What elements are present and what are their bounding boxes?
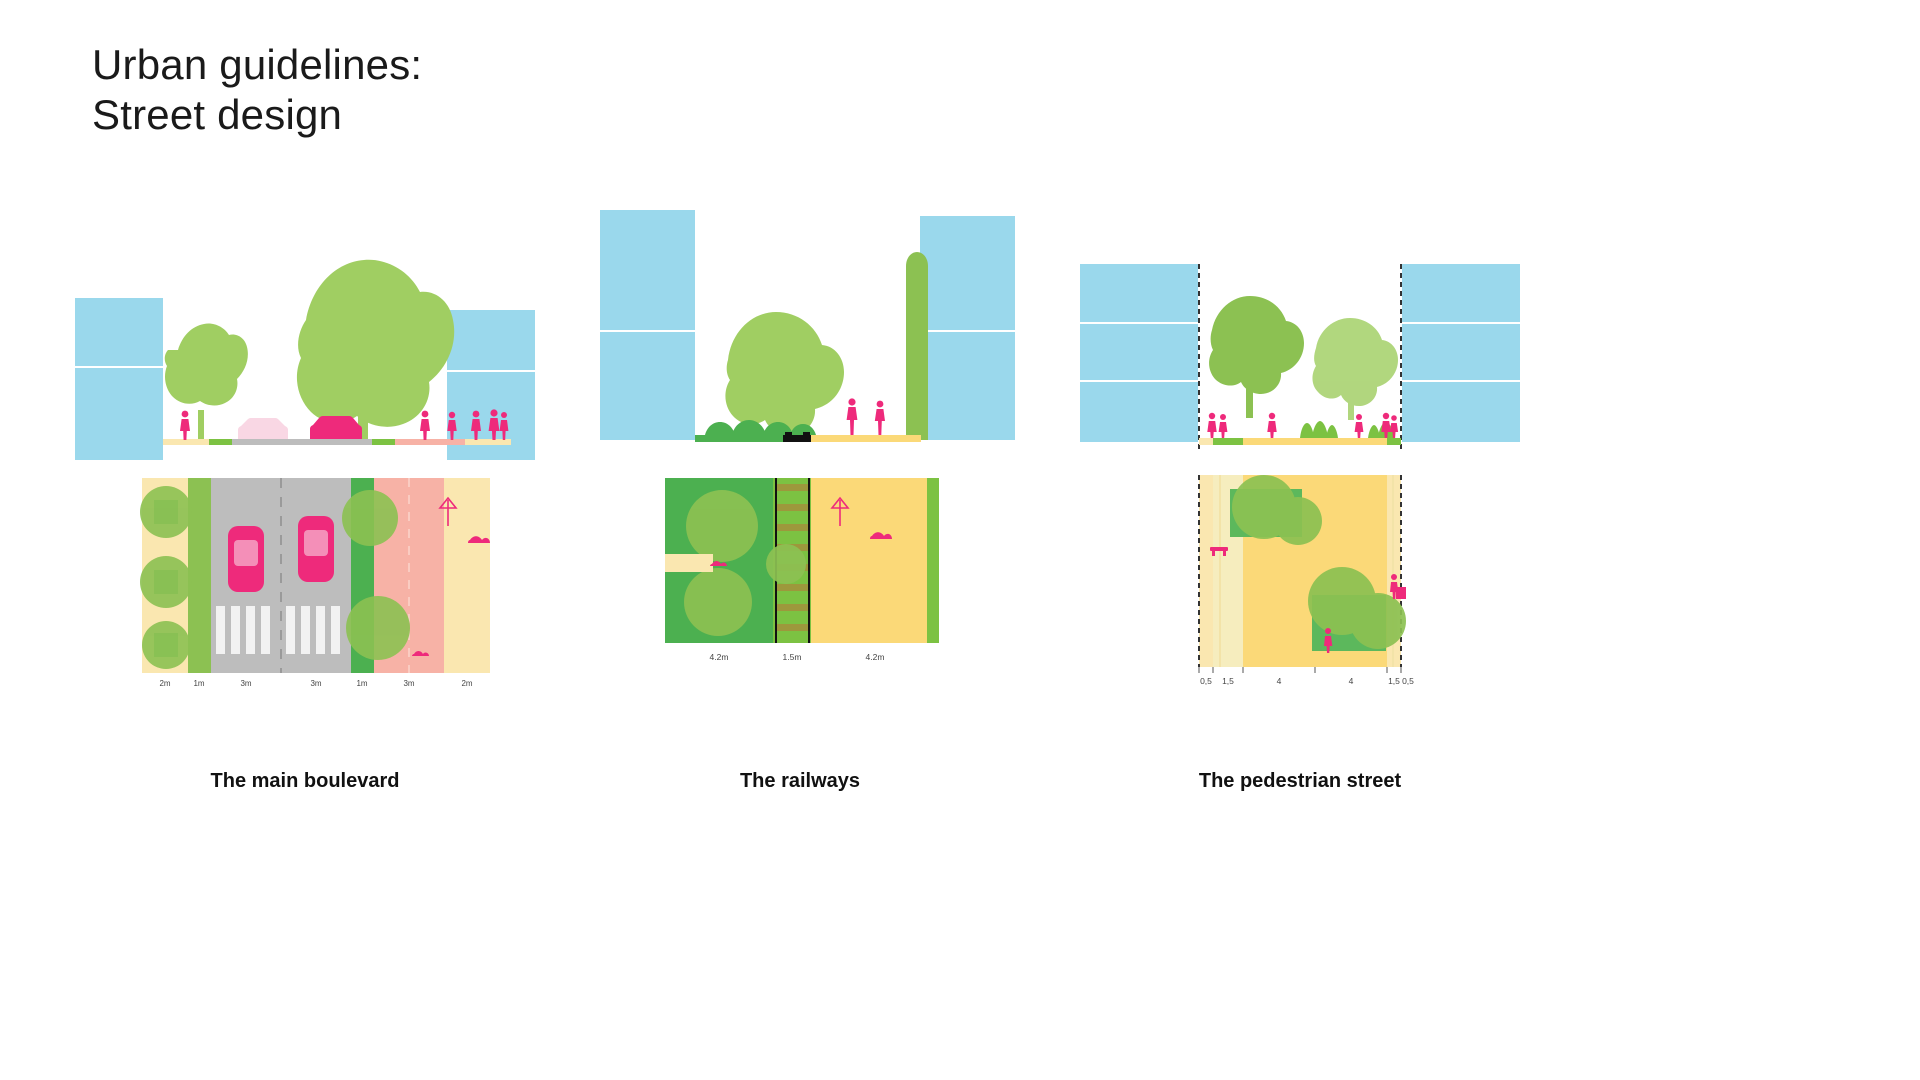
dim-label: 1.5m <box>783 652 802 662</box>
panel-pedestrian: 0,5 1,5 4 4 1,5 0,5 The pedestrian stree… <box>1060 230 1540 690</box>
building-left <box>75 298 163 460</box>
kiosk-icon <box>1396 587 1406 599</box>
car-pink-icon <box>310 416 362 439</box>
dim-label: 3m <box>403 679 414 688</box>
dim-label: 2m <box>159 679 170 688</box>
dim-label: 1,5 <box>1222 676 1234 686</box>
panel-railways: 4.2m 1.5m 4.2m The railways <box>600 230 1040 678</box>
person-icon <box>420 411 430 440</box>
person-icon <box>875 401 885 435</box>
caption-pedestrian: The pedestrian street <box>1199 770 1401 793</box>
hedge-tall-icon <box>906 252 928 440</box>
boulevard-section-view <box>70 230 540 460</box>
clearing-patch <box>665 554 713 572</box>
pedestrian-section-view <box>1060 256 1540 461</box>
boulevard-dimensions: 2m 1m 3m 3m 1m 3m 2m <box>159 679 472 688</box>
dim-label: 4 <box>1349 676 1354 686</box>
dimension-ticks <box>1199 667 1401 673</box>
pedestrian-plan-view: 0,5 1,5 4 4 1,5 0,5 <box>1060 475 1540 690</box>
dim-label: 4 <box>1277 676 1282 686</box>
dim-label: 2m <box>461 679 472 688</box>
car-plan-icon <box>298 516 334 582</box>
person-icon <box>1219 414 1228 438</box>
dim-label: 1m <box>356 679 367 688</box>
building-left <box>600 210 695 440</box>
boulevard-plan-view: 2m 1m 3m 3m 1m 3m 2m <box>70 478 540 688</box>
building-left <box>1080 264 1198 442</box>
dim-label: 0,5 <box>1402 676 1414 686</box>
dim-label: 4.2m <box>866 652 885 662</box>
person-icon <box>1207 413 1216 438</box>
dim-label: 1m <box>193 679 204 688</box>
tree-small-icon <box>165 324 248 440</box>
slide-root: Urban guidelines: Street design <box>0 0 1920 1080</box>
building-right <box>447 310 535 460</box>
dim-label: 3m <box>240 679 251 688</box>
dim-label: 4.2m <box>710 652 729 662</box>
grass-clumps <box>1300 421 1394 438</box>
dim-label: 1,5 <box>1388 676 1400 686</box>
dim-label: 3m <box>310 679 321 688</box>
building-right <box>1402 264 1520 442</box>
railways-section-view <box>600 230 1040 460</box>
tree-left-icon <box>1209 296 1304 418</box>
tree-large-icon <box>725 312 844 435</box>
tree-large-icon <box>297 260 454 442</box>
caption-boulevard: The main boulevard <box>211 770 400 793</box>
cyclist-icon <box>847 398 858 435</box>
car-plan-icon <box>228 526 264 592</box>
pedestrian-ground-bands <box>1199 438 1401 445</box>
tree-right-icon <box>1312 318 1398 420</box>
page-title: Urban guidelines: Street design <box>92 40 422 139</box>
railways-dimensions: 4.2m 1.5m 4.2m <box>710 652 885 662</box>
building-right <box>920 216 1015 440</box>
car-light-icon <box>238 418 288 439</box>
person-icon <box>180 411 190 440</box>
person-icon <box>1355 414 1364 438</box>
boulevard-ground-bands <box>163 439 511 445</box>
dim-label: 0,5 <box>1200 676 1212 686</box>
pedestrian-dimensions: 0,5 1,5 4 4 1,5 0,5 <box>1200 676 1414 686</box>
person-icon <box>1267 413 1276 438</box>
caption-railways: The railways <box>740 770 860 793</box>
panel-boulevard: 2m 1m 3m 3m 1m 3m 2m The main boulevard <box>70 230 540 688</box>
hedge-plan-icon <box>927 478 939 643</box>
railways-plan-view: 4.2m 1.5m 4.2m <box>600 478 1040 678</box>
